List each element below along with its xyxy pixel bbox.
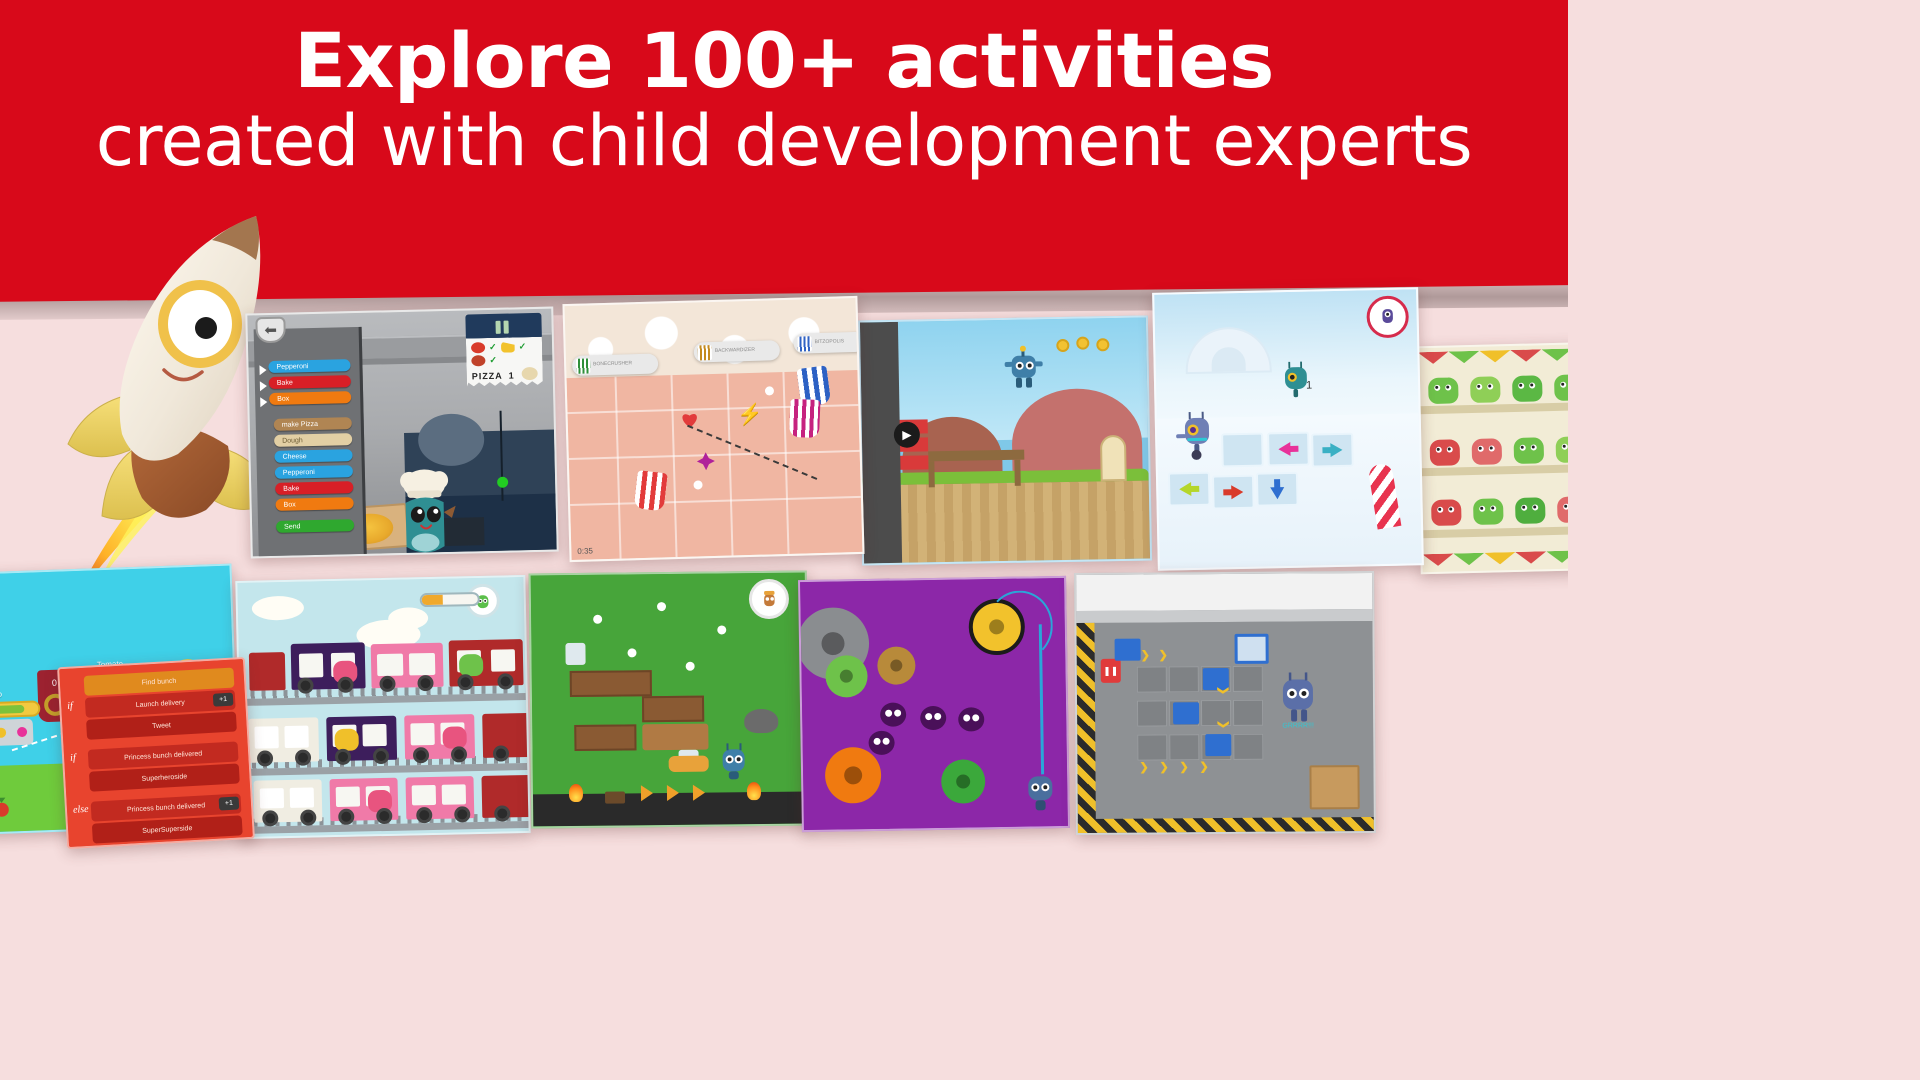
keyword-if: if	[67, 701, 73, 712]
blue-crate	[1205, 734, 1231, 756]
plank	[574, 724, 636, 751]
target-slot	[1235, 634, 1269, 664]
check-icon: ✓	[489, 343, 497, 352]
monster-toy[interactable]	[1514, 437, 1545, 464]
card-platformer[interactable]: ▶	[858, 315, 1152, 565]
monster-toy[interactable]	[1512, 375, 1543, 402]
cheese-icon	[501, 341, 515, 352]
monster-toy[interactable]	[1472, 438, 1503, 465]
robot-hero	[1002, 345, 1045, 392]
blue-crate	[1173, 702, 1199, 724]
monster-toy[interactable]	[1470, 376, 1501, 403]
card-train[interactable]	[235, 575, 530, 839]
chevron-right-icon: ❯	[1199, 760, 1208, 773]
order-ticket-panel: ✓ ✓ ✓ PIZZA 1	[465, 313, 543, 387]
card-farm-lava[interactable]	[529, 571, 810, 829]
chevron-right-icon: ❯	[1159, 760, 1168, 773]
card-snow-puzzle[interactable]: 1	[1152, 287, 1424, 571]
factory-robot: GRRRR!!!	[1271, 669, 1325, 731]
direction-tile[interactable]	[1256, 472, 1299, 507]
chevron-down-icon: ❯	[1217, 686, 1230, 695]
carrot-pile	[669, 756, 709, 772]
arrow-sign	[667, 785, 679, 801]
rock	[744, 709, 778, 733]
receipt-row: ✓	[471, 354, 537, 366]
palette-block-0[interactable]: make Pizza	[274, 417, 352, 431]
player-healthbar-1: BACKWARDIZER	[694, 340, 781, 362]
tomato-icon	[471, 342, 485, 353]
snow-counter: 1	[1306, 379, 1312, 391]
robot-player	[1175, 409, 1220, 460]
ground-tiles	[863, 480, 1150, 563]
palette-block-5[interactable]: Box	[275, 497, 353, 511]
code-block-panel[interactable]: Pepperoni Bake Box make Pizza Dough Chee…	[254, 327, 367, 557]
flower	[657, 602, 666, 611]
coal	[605, 791, 625, 803]
card-tile-maze[interactable]: BONECRUSHER BACKWARDIZER BITZOPOLIS	[562, 296, 864, 562]
palette-block-1[interactable]: Dough	[274, 433, 352, 447]
svg-text:GRRRR!!!: GRRRR!!!	[1282, 722, 1314, 729]
block-arrow-icon	[260, 381, 267, 391]
player-avatar	[797, 336, 811, 351]
block-arrow-icon	[260, 397, 267, 407]
ice-block	[565, 643, 585, 665]
ticket-printer	[465, 313, 542, 341]
player-name-1: BACKWARDIZER	[715, 347, 776, 354]
blue-crate	[1115, 639, 1141, 661]
hazard-stripes	[1078, 817, 1374, 833]
diamond-icon	[697, 452, 715, 470]
chevron-right-icon: ❯	[1139, 761, 1148, 774]
score-value: 0	[52, 678, 57, 688]
pause-button[interactable]: ❚❚	[1101, 659, 1121, 683]
pepperoni-icon	[471, 355, 485, 366]
monster-toy[interactable]	[1430, 439, 1461, 466]
palette-block-4[interactable]: Bake	[275, 481, 353, 495]
dough-icon	[522, 367, 538, 380]
avatar[interactable]	[749, 579, 789, 619]
chevron-right-icon: ❯	[1179, 760, 1188, 773]
cardboard-crate	[1309, 765, 1359, 809]
bridge-deck	[928, 450, 1024, 462]
player-name-0: BONECRUSHER	[593, 361, 654, 368]
bunting-banner	[1417, 348, 1568, 365]
monster-toy[interactable]	[1554, 374, 1568, 401]
check-icon: ✓	[519, 342, 527, 351]
plank	[642, 696, 704, 723]
chevron-right-icon: ❯	[1159, 648, 1168, 661]
check-icon: ✓	[489, 356, 497, 365]
palette-block-2[interactable]: Cheese	[274, 449, 352, 463]
dirt-tile	[642, 724, 708, 751]
receipt-row: ✓ ✓	[471, 341, 537, 353]
receipt-title: PIZZA	[472, 371, 503, 382]
program-block-0[interactable]: Pepperoni	[268, 359, 350, 373]
player-healthbar-0: BONECRUSHER	[572, 354, 659, 376]
lightning-bolt-icon: ⚡	[737, 405, 762, 426]
receipt-count: 1	[509, 370, 515, 380]
chevron-right-icon: ❯	[1141, 649, 1150, 662]
order-receipt: ✓ ✓ ✓ PIZZA 1	[466, 337, 543, 387]
flower	[593, 615, 602, 624]
factory-ceiling	[1076, 573, 1372, 611]
direction-tile[interactable]	[1212, 475, 1255, 510]
count-badge-2: +1	[219, 796, 240, 810]
monster-toy[interactable]	[1473, 498, 1504, 525]
direction-tile[interactable]	[1221, 433, 1264, 468]
slider-control-0[interactable]	[0, 700, 41, 718]
chevron-down-icon: ❯	[1217, 720, 1230, 729]
train-car[interactable]	[249, 652, 286, 691]
player-avatar	[576, 358, 590, 373]
card-pizza-coding[interactable]: Pepperoni Bake Box make Pizza Dough Chee…	[245, 307, 558, 559]
player-healthbar-2: BITZOPOLIS	[793, 332, 862, 354]
program-block-2[interactable]: Box	[269, 391, 351, 405]
palette-block-3[interactable]: Pepperoni	[275, 465, 353, 479]
card-monster-shelf[interactable]	[1415, 342, 1568, 575]
bunting-banner	[1422, 550, 1568, 567]
flower	[627, 648, 636, 657]
shelf-row	[1422, 526, 1568, 539]
monster-toy[interactable]	[1555, 436, 1568, 463]
keyword-else: else	[73, 804, 89, 816]
count-badge: +1	[213, 693, 234, 707]
popcorn-pink	[789, 399, 821, 438]
flower	[717, 625, 726, 634]
maze-timer: 0:35	[577, 546, 593, 555]
player-name-2: BITZOPOLIS	[815, 339, 863, 345]
hazard-stripes	[1076, 623, 1095, 833]
flame	[747, 782, 761, 800]
exit-door	[1100, 435, 1127, 481]
card-code-stack[interactable]: Find bunch if Launch delivery +1 Tweet i…	[57, 657, 255, 849]
flower	[686, 662, 695, 671]
program-block-1[interactable]: Bake	[269, 375, 351, 389]
plank	[570, 670, 652, 697]
bridge-post	[1014, 460, 1020, 486]
back-arrow-icon: ⬅	[264, 321, 277, 339]
progress-bar	[420, 592, 480, 607]
card-gears[interactable]	[798, 576, 1070, 832]
bridge-post	[928, 461, 934, 487]
player-avatar	[698, 345, 712, 360]
flame	[569, 784, 583, 802]
robot-goal	[1276, 357, 1321, 408]
direction-tile[interactable]	[1168, 472, 1211, 507]
direction-tile[interactable]	[1267, 432, 1310, 467]
block-arrow-icon	[259, 365, 266, 375]
monster-toy[interactable]	[1557, 496, 1568, 523]
tomato-plant	[0, 795, 12, 818]
direction-tile[interactable]	[1311, 433, 1354, 468]
card-factory[interactable]: ❚❚ ❯ ❯ ❯ ❯ ❯ ❯ ❯ ❯	[1074, 571, 1376, 835]
promo-image-stage: Pepperoni Bake Box make Pizza Dough Chee…	[0, 0, 1568, 880]
keyword-if-2: if	[70, 752, 76, 763]
receipt-total-row: PIZZA 1	[472, 367, 538, 381]
arrow-sign	[693, 785, 705, 801]
palette-block-6[interactable]: Send	[276, 519, 354, 533]
monster-toy[interactable]	[1515, 497, 1546, 524]
monster-toy[interactable]	[1431, 499, 1462, 526]
robot-player	[714, 741, 752, 781]
pizza-chef-character	[389, 462, 461, 557]
robot-player	[1019, 768, 1062, 817]
slider-label-0: Tomato	[0, 690, 2, 700]
arrow-sign	[641, 785, 653, 801]
monster-toy[interactable]	[1428, 377, 1459, 404]
popcorn-red	[634, 470, 668, 511]
